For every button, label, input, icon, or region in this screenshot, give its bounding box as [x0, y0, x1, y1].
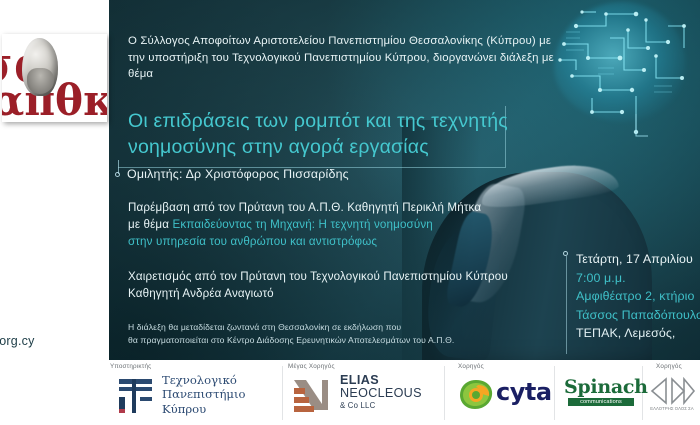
- cyta-swirl-icon: [456, 376, 496, 414]
- sponsor-diazoma: Χορηγός ΕΛΛΟΤΡΗΣ ΟΛΟΣ ΣΑ: [648, 360, 700, 425]
- sponsor-name: ELIAS NEOCLEOUS & Co LLC: [340, 374, 422, 411]
- tepak-name-line1: Τεχνολογικό: [162, 373, 237, 387]
- stream-note-line1: Η διάλεξη θα μεταδίδεται ζωντανά στη Θεσ…: [128, 322, 401, 332]
- page-title: Οι επιδράσεις των ρομπότ και της τεχνητή…: [128, 108, 598, 160]
- left-white-panel: σα απθκ ac.org.cy: [0, 0, 109, 360]
- sponsor-caption: Υποστηρικτής: [110, 363, 151, 370]
- intro-paragraph: Ο Σύλλογος Αποφοίτων Αριστοτελείου Πανεπ…: [128, 33, 558, 83]
- intervention-theme-line2: στην υπηρεσία του ανθρώπου και αντιστρόφ…: [128, 235, 377, 248]
- diazoma-subtext: ΕΛΛΟΤΡΗΣ ΟΛΟΣ ΣΑ: [648, 406, 696, 411]
- greeting-block: Χαιρετισμός από τον Πρύτανη του Τεχνολογ…: [128, 269, 548, 302]
- event-venue-line1: Αμφιθέατρο 2, κτήριο: [576, 287, 700, 306]
- intervention-with-theme-label: με θέμα: [128, 218, 173, 231]
- triangles-mark-icon: [650, 377, 696, 405]
- event-details: Τετάρτη, 17 Απριλίου 7:00 μ.μ. Αμφιθέατρ…: [576, 250, 700, 343]
- elias-n-mark-icon: [292, 376, 334, 416]
- sponsor-caption: Χορηγός: [458, 363, 484, 370]
- intervention-block: Παρέμβαση από τον Πρύτανη του Α.Π.Θ. Καθ…: [128, 199, 568, 250]
- stream-note-line2: θα πραγματοποιείται στο Κέντρο Διάδοσης …: [128, 335, 454, 345]
- sponsor-elias-neocleous: Μέγας Χορηγός ELIAS NEOCLEOUS & Co LLC: [288, 360, 458, 425]
- sponsor-tepak: Υποστηρικτής Τεχνολογικό Πανεπιστήμιο Κύ…: [110, 360, 280, 425]
- sponsor-spinach: Spinach communications: [560, 360, 655, 425]
- stream-note: Η διάλεξη θα μεταδίδεται ζωντανά στη Θεσ…: [128, 321, 558, 346]
- event-time: 7:00 μ.μ.: [576, 269, 700, 288]
- spinach-tagline: communications: [568, 398, 634, 406]
- tepak-name-line3: Κύπρου: [162, 402, 206, 416]
- event-date: Τετάρτη, 17 Απριλίου: [576, 250, 700, 269]
- bust-beard: [27, 68, 54, 94]
- details-connector-line: [566, 256, 567, 354]
- event-venue-line3: ΤΕΠΑΚ, Λεμεσός,: [576, 324, 700, 343]
- organizer-logo: σα απθκ: [2, 34, 107, 122]
- sponsor-bar: Υποστηρικτής Τεχνολογικό Πανεπιστήμιο Κύ…: [0, 360, 700, 425]
- aristotle-bust-icon: [22, 38, 58, 96]
- cut-logo-icon: [116, 376, 156, 416]
- speaker-connector-dot: [115, 172, 120, 177]
- title-line-2: νοημοσύνης στην αγορά εργασίας: [128, 134, 598, 160]
- sponsor-caption: Χορηγός: [656, 363, 682, 370]
- title-line-1: Οι επιδράσεις των ρομπότ και της τεχνητή…: [128, 110, 508, 132]
- website-url[interactable]: ac.org.cy: [0, 334, 35, 348]
- intervention-lead: Παρέμβαση από τον Πρύτανη του Α.Π.Θ. Καθ…: [128, 201, 481, 214]
- sponsor-name: Spinach: [564, 378, 648, 397]
- elias-name-line3: & Co LLC: [340, 400, 422, 411]
- sponsor-name: cyta: [496, 380, 552, 404]
- sponsor-caption: Μέγας Χορηγός: [288, 363, 335, 370]
- event-poster: σα απθκ ac.org.cy Ο Σύλλογος Αποφοίτων Α…: [0, 0, 700, 425]
- sponsor-divider-1: [282, 366, 283, 420]
- elias-name-line2: NEOCLEOUS: [340, 387, 422, 400]
- speaker-name: Ομιλητής: Δρ Χριστόφορος Πισσαρίδης: [127, 167, 349, 181]
- event-venue-line2: Τάσσος Παπαδόπουλος: [576, 306, 700, 325]
- intervention-theme-line1: Εκπαιδεύοντας τη Μηχανή: Η τεχνητή νοημο…: [173, 218, 433, 231]
- sponsor-name: Τεχνολογικό Πανεπιστήμιο Κύπρου: [162, 373, 246, 416]
- tepak-name-line2: Πανεπιστήμιο: [162, 387, 246, 401]
